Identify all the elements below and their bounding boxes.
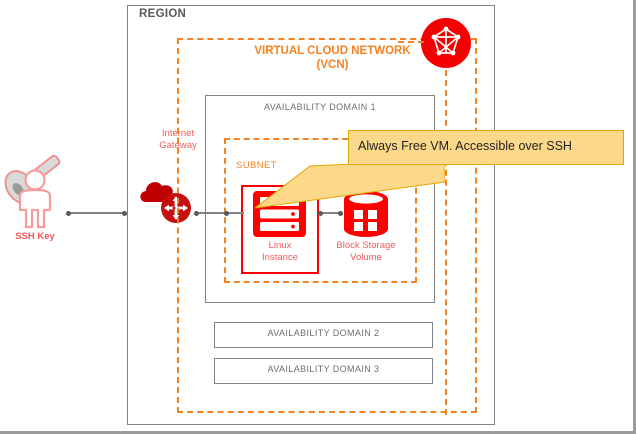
diagram-canvas: REGION VIRTUAL CLOUD NETWORK (VCN) <box>0 0 636 434</box>
connector-dot <box>338 211 343 216</box>
vcn-network-icon <box>420 17 472 69</box>
connector-region-to-subnet <box>196 212 244 214</box>
availability-domain-1-label: AVAILABILITY DOMAIN 1 <box>205 102 435 112</box>
availability-domain-3-label: AVAILABILITY DOMAIN 3 <box>214 364 433 374</box>
linux-instance-label-line2: Instance <box>241 252 319 264</box>
vcn-label-line1: VIRTUAL CLOUD NETWORK <box>245 44 420 58</box>
connector-dot <box>224 211 229 216</box>
availability-domain-2-label: AVAILABILITY DOMAIN 2 <box>214 328 433 338</box>
linux-instance-label-line1: Linux <box>241 240 319 252</box>
connector-ssh-to-region <box>68 212 125 214</box>
user-with-key-icon <box>4 148 66 230</box>
connector-dot <box>318 211 323 216</box>
connector-dot <box>194 211 199 216</box>
block-storage-label: Block Storage Volume <box>326 240 406 264</box>
vcn-icon-vertical-dash <box>445 70 447 415</box>
block-storage-label-line2: Volume <box>326 252 406 264</box>
callout-box[interactable]: Always Free VM. Accessible over SSH <box>348 130 624 165</box>
igw-vertical-dash <box>177 38 179 413</box>
linux-instance-label: Linux Instance <box>241 240 319 264</box>
ssh-key-label: SSH Key <box>2 231 68 242</box>
connector-dot <box>122 211 127 216</box>
vcn-label: VIRTUAL CLOUD NETWORK (VCN) <box>245 44 420 72</box>
callout-tail <box>255 160 445 210</box>
callout-text: Always Free VM. Accessible over SSH <box>358 139 572 153</box>
connector-dot <box>66 211 71 216</box>
vcn-label-line2: (VCN) <box>245 58 420 72</box>
block-storage-label-line1: Block Storage <box>326 240 406 252</box>
region-label: REGION <box>139 8 186 20</box>
vcn-icon-connector <box>398 41 424 43</box>
